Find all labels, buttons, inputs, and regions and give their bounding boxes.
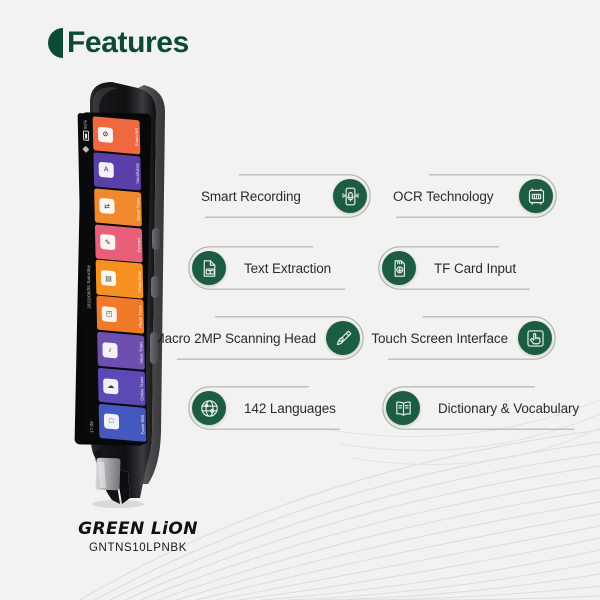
brand-model-number: GNTNS10LPNBK (58, 542, 218, 554)
feature-pill[interactable]: Touch Screen Interface (366, 316, 556, 360)
feature-pill[interactable]: Smart Recording (183, 174, 371, 218)
volume-down-button (150, 332, 158, 364)
volume-up-button (151, 276, 159, 298)
feature-label: TF Card Input (426, 261, 516, 276)
text-extraction-icon (192, 251, 226, 285)
feature-pill-content: TF Card Input (378, 246, 550, 290)
feature-pill-content: Touch Screen Interface (366, 316, 556, 360)
feature-pill-content: 142 Languages (188, 386, 360, 430)
feature-pill[interactable]: OCR Technology (375, 174, 557, 218)
feature-pill-content: OCR Technology (375, 174, 557, 218)
page-header: Features (48, 28, 189, 58)
scanning-head-icon (326, 321, 360, 355)
feature-label: Text Extraction (236, 261, 331, 276)
touch-screen-icon (518, 321, 552, 355)
tf-card-icon (382, 251, 416, 285)
feature-pill[interactable]: 142 Languages (188, 386, 360, 430)
dictionary-book-icon (386, 391, 420, 425)
feature-pill-content: Text Extraction (188, 246, 366, 290)
feature-label: Dictionary & Vocabulary (430, 401, 579, 416)
feature-pill-content: Smart Recording (183, 174, 371, 218)
feature-label: Touch Screen Interface (357, 331, 508, 346)
feature-pill[interactable]: TF Card Input (378, 246, 550, 290)
feature-label: 142 Languages (236, 401, 336, 416)
feature-pill[interactable]: Dictionary & Vocabulary (382, 386, 600, 430)
brand-name: GREEN LiON (58, 520, 218, 539)
feature-pill[interactable]: Text Extraction (188, 246, 366, 290)
page-title: Features (67, 28, 189, 58)
power-button (152, 228, 160, 250)
feature-pill-content: Dictionary & Vocabulary (382, 386, 600, 430)
scanning-pen-device: 81% 2023/06/05 Saturday 17:08 ⚙Exam AidA… (60, 80, 180, 510)
smart-recording-icon (333, 179, 367, 213)
feature-label: Smart Recording (187, 189, 301, 204)
languages-globe-icon (192, 391, 226, 425)
brand-block: GREEN LiON GNTNS10LPNBK (58, 520, 218, 554)
feature-label: OCR Technology (379, 189, 493, 204)
left-caret-icon (48, 28, 63, 58)
feature-pill[interactable]: Macro 2MP Scanning Head (152, 316, 364, 360)
feature-pill-content: Macro 2MP Scanning Head (152, 316, 364, 360)
pen-body (60, 80, 180, 510)
ocr-technology-icon (519, 179, 553, 213)
